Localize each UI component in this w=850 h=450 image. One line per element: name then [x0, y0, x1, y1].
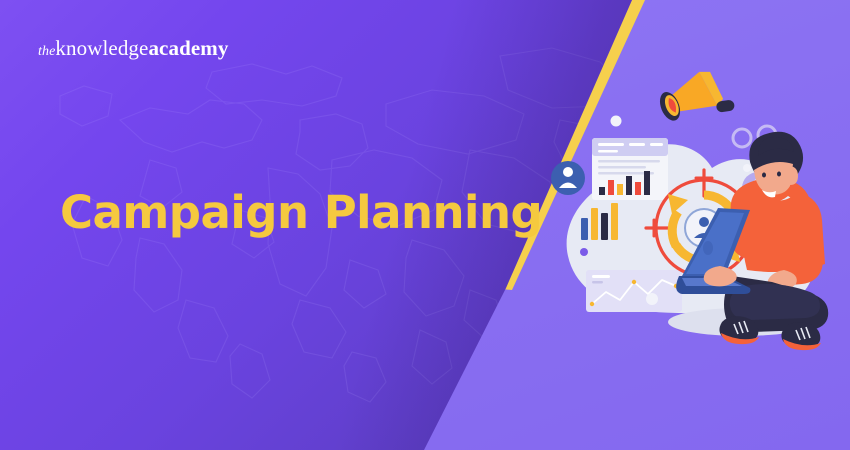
report-card-bar-chart [592, 138, 668, 200]
brand-logo[interactable]: theknowledgeacademy [38, 38, 228, 59]
avatar-badge-blue [551, 161, 585, 195]
dot-accent-1 [611, 116, 622, 127]
logo-word-academy: academy [148, 36, 228, 60]
logo-word-knowledge: knowledge [55, 36, 148, 60]
campaign-planning-illustration [536, 70, 850, 370]
banner-root: theknowledgeacademy Campaign Planning [0, 0, 850, 450]
page-title: Campaign Planning [60, 188, 542, 238]
dot-accent-2 [743, 164, 751, 172]
line-chart-card [586, 270, 682, 312]
megaphone-icon [654, 70, 738, 136]
ring-outline-1 [733, 129, 751, 147]
dot-accent-3 [646, 293, 658, 305]
logo-word-the: the [38, 44, 55, 59]
